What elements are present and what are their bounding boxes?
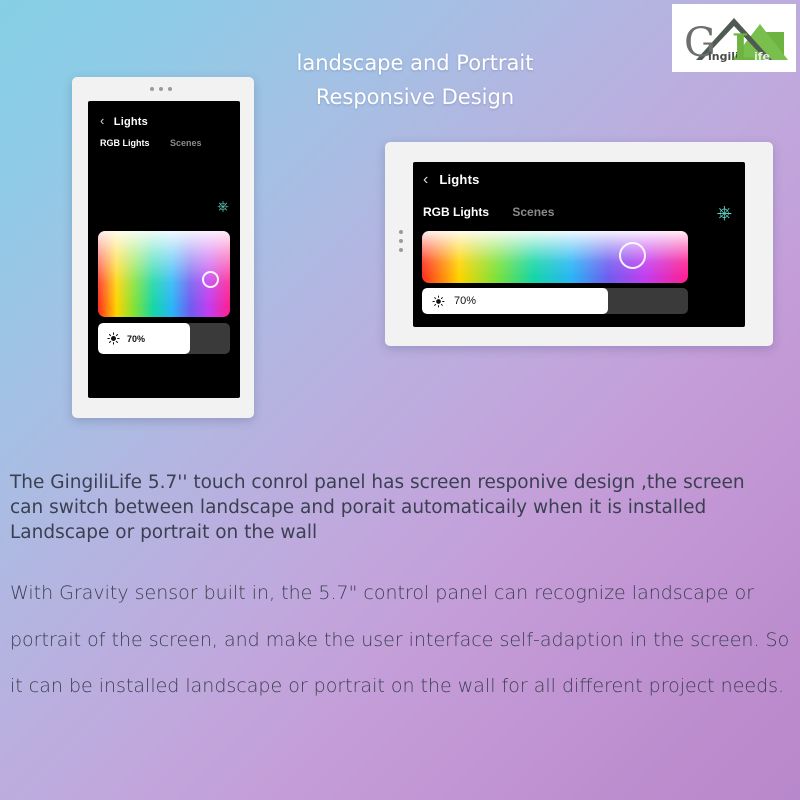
portrait-brightness-slider[interactable]: 70%	[98, 323, 230, 354]
portrait-bezel-three-dots-icon	[150, 87, 178, 93]
landscape-brightness-value: 70%	[454, 295, 476, 307]
description-paragraph-2: With Gravity sensor built in, the 5.7" c…	[10, 570, 795, 710]
portrait-power-icon[interactable]: ⎈	[217, 199, 229, 214]
portrait-color-selector-handle[interactable]	[202, 271, 219, 288]
tab-scenes[interactable]: Scenes	[170, 138, 202, 148]
portrait-back-row[interactable]: ‹ Lights	[100, 113, 148, 128]
brightness-sun-icon	[107, 332, 120, 345]
brand-logo: G ingili L ife	[672, 4, 796, 72]
landscape-back-label: Lights	[439, 172, 479, 187]
description-paragraph-1: The GingiliLife 5.7'' touch conrol panel…	[10, 470, 780, 545]
landscape-color-picker[interactable]	[422, 231, 688, 283]
landscape-tab-bar: RGB Lights Scenes	[423, 205, 554, 219]
tab-rgb-lights[interactable]: RGB Lights	[100, 138, 150, 148]
portrait-panel-bezel: ‹ Lights RGB Lights Scenes ⎈	[72, 77, 254, 418]
portrait-screen: ‹ Lights RGB Lights Scenes ⎈	[88, 101, 240, 398]
svg-text:ife: ife	[754, 50, 770, 63]
landscape-screen: ‹ Lights RGB Lights Scenes ⎈	[413, 162, 745, 327]
portrait-back-label: Lights	[114, 116, 148, 128]
tab-scenes[interactable]: Scenes	[512, 205, 554, 219]
portrait-brightness-value: 70%	[127, 334, 145, 344]
landscape-power-icon[interactable]: ⎈	[717, 204, 732, 223]
landscape-back-row[interactable]: ‹ Lights	[423, 171, 480, 189]
page-root: G ingili L ife landscape and Portrait Re…	[0, 0, 800, 800]
portrait-color-picker[interactable]	[98, 231, 230, 317]
brightness-sun-icon	[432, 295, 445, 308]
portrait-brightness-label-row: 70%	[107, 323, 145, 354]
landscape-brightness-label-row: 70%	[432, 288, 476, 314]
chevron-left-icon[interactable]: ‹	[423, 171, 429, 189]
landscape-color-selector-handle[interactable]	[619, 242, 646, 269]
tab-rgb-lights[interactable]: RGB Lights	[423, 205, 489, 219]
landscape-panel-bezel: ‹ Lights RGB Lights Scenes ⎈	[385, 142, 773, 346]
chevron-left-icon[interactable]: ‹	[100, 113, 105, 128]
gingililife-logo-icon: G ingili L ife	[672, 4, 796, 72]
page-title-line-2: Responsive Design	[200, 80, 630, 114]
landscape-bezel-three-dots-icon	[399, 230, 405, 258]
page-title: landscape and Portrait Responsive Design	[200, 46, 630, 114]
landscape-brightness-slider[interactable]: 70%	[422, 288, 688, 314]
page-title-line-1: landscape and Portrait	[200, 46, 630, 80]
portrait-tab-bar: RGB Lights Scenes	[100, 138, 202, 148]
